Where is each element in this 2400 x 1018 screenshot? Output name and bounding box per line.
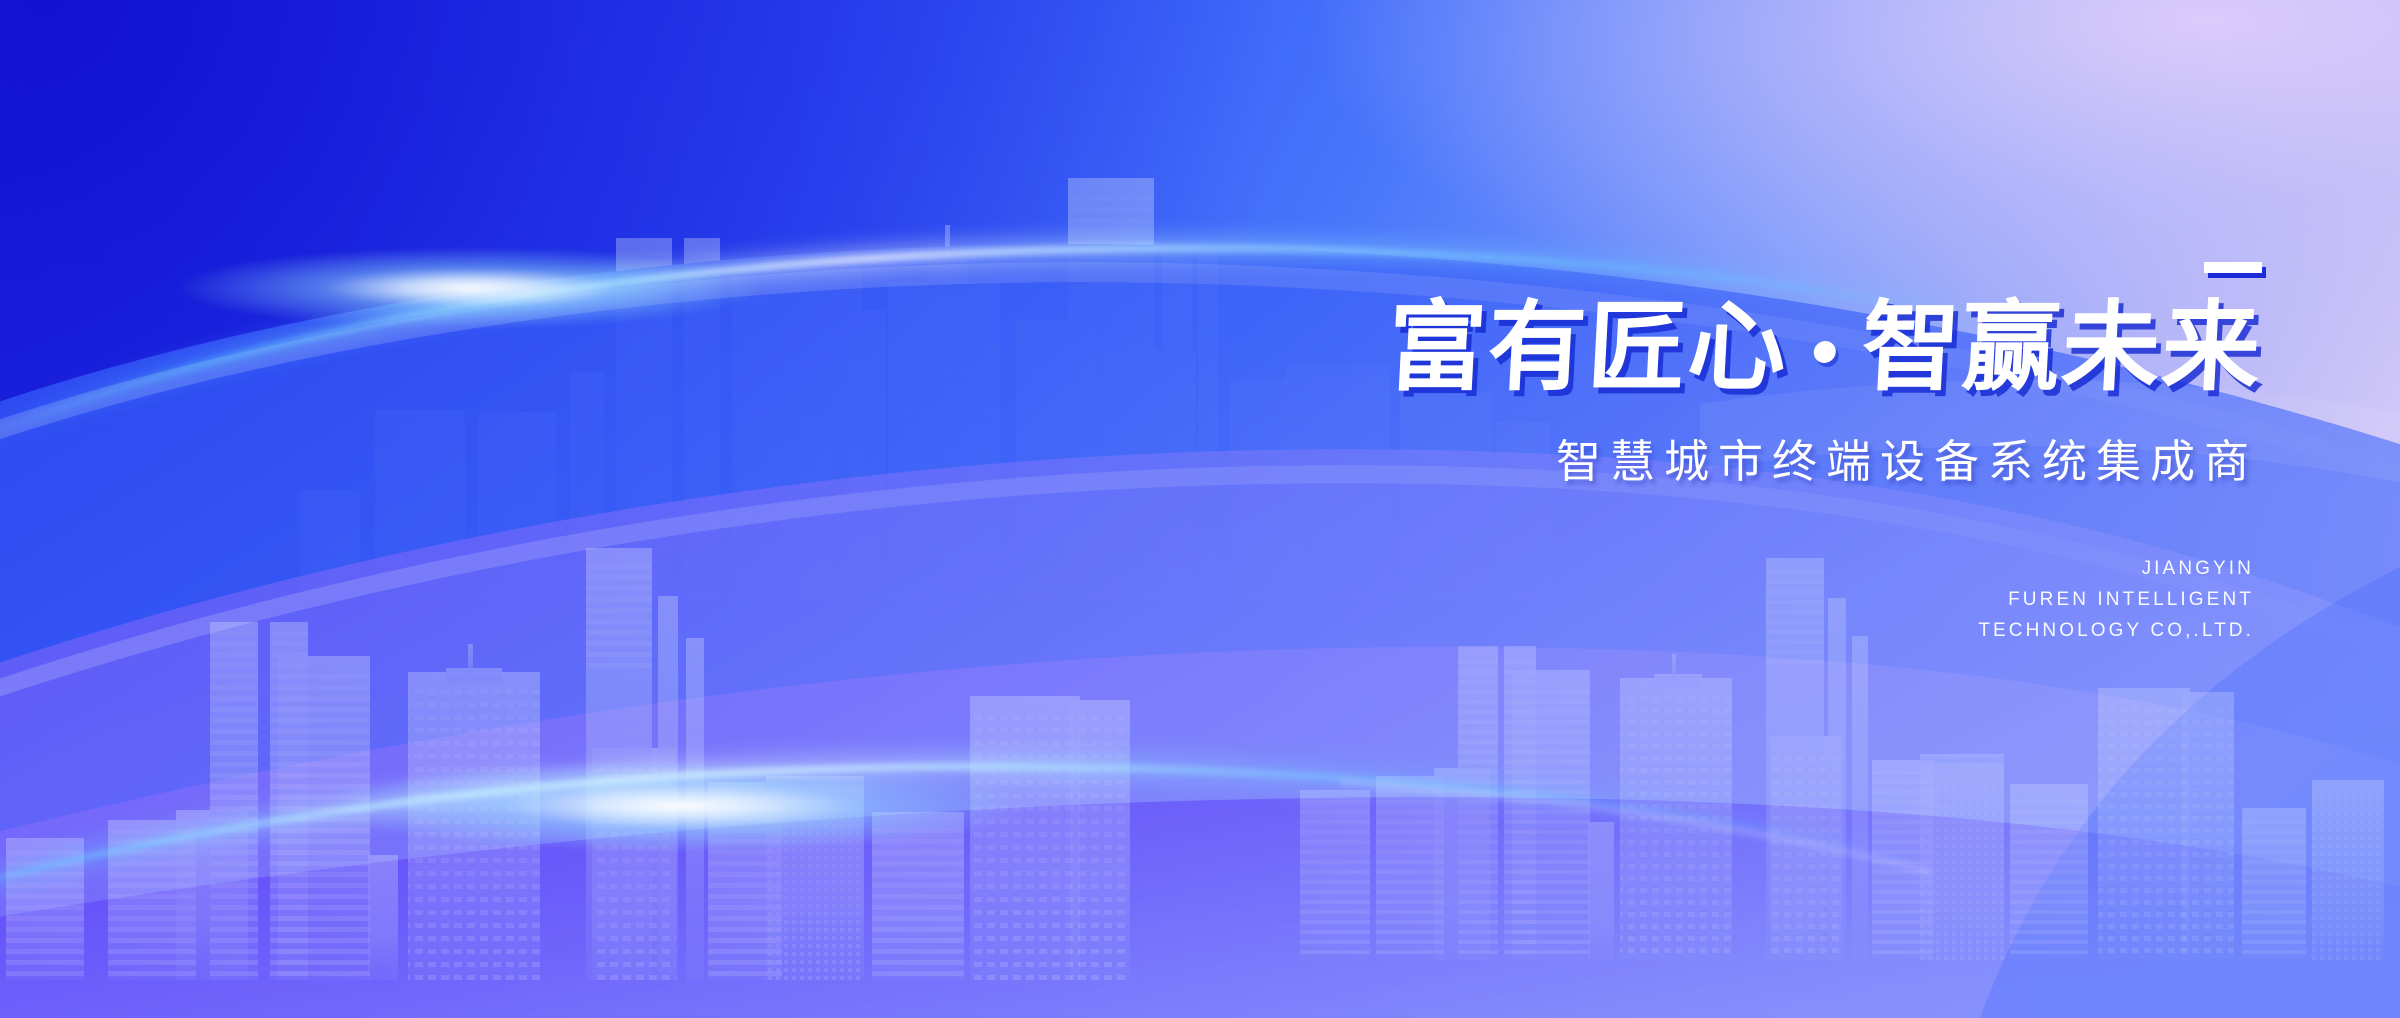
company-line-2: FUREN INTELLIGENT	[1388, 585, 2254, 616]
headline-text-block: 富有匠心 智赢未来 智慧城市终端设备系统集成商 JIANGYIN FUREN I…	[1388, 262, 2262, 646]
company-name-block: JIANGYIN FUREN INTELLIGENT TECHNOLOGY CO…	[1388, 554, 2262, 646]
headline-left-text: 富有匠心	[1385, 299, 1790, 397]
page-subtitle: 智慧城市终端设备系统集成商	[1388, 425, 2262, 490]
company-line-3: TECHNOLOGY CO,.LTD.	[1388, 616, 2254, 647]
glow-hotspot-upper	[180, 248, 760, 328]
accent-dash-row	[1388, 262, 2262, 273]
banner-canvas: 富有匠心 智赢未来 智慧城市终端设备系统集成商 JIANGYIN FUREN I…	[0, 0, 2400, 1018]
headline-right-text: 智赢未来	[1859, 299, 2264, 397]
headline-separator-dot-icon	[1813, 341, 1836, 363]
page-title: 富有匠心 智赢未来	[1385, 299, 2264, 397]
glow-hotspot-lower	[330, 760, 1030, 852]
accent-dash-icon	[2204, 262, 2262, 273]
company-line-1: JIANGYIN	[1388, 554, 2254, 585]
